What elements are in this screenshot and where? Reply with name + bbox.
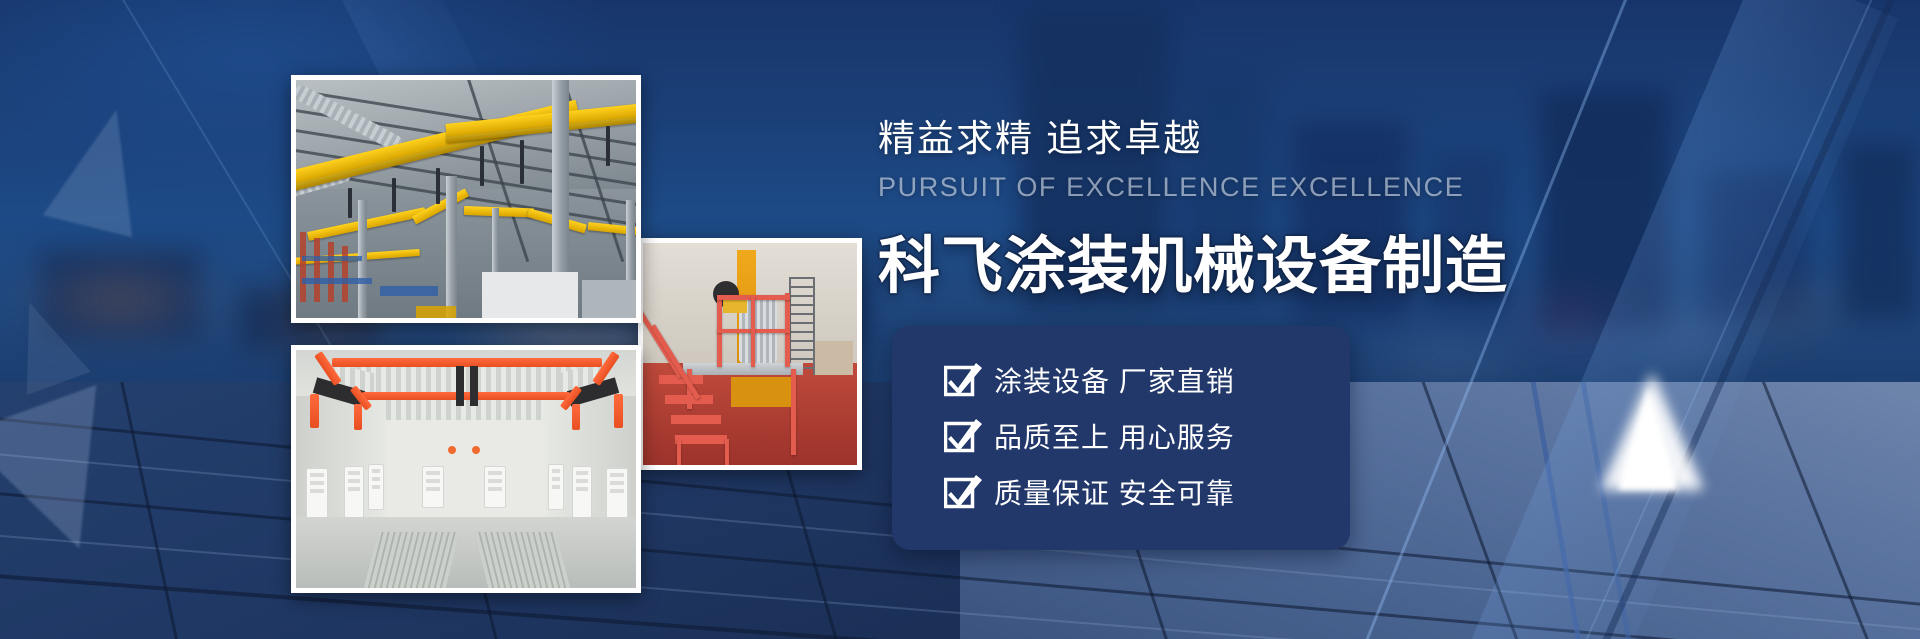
feature-list-box: 涂装设备 厂家直销 品质至上 用心服务 质量保证 安全可靠: [892, 326, 1350, 550]
spray-booth-interior-photo[interactable]: [291, 345, 641, 593]
red-work-platform-photo[interactable]: [638, 238, 862, 470]
feature-label: 涂装设备 厂家直销: [994, 360, 1235, 400]
spotlight-beam-core: [1618, 388, 1678, 490]
feature-label: 质量保证 安全可靠: [994, 472, 1235, 512]
checkbox-checked-icon: [944, 477, 974, 507]
checkbox-checked-icon: [944, 365, 974, 395]
overhead-conveyor-line-photo[interactable]: [291, 75, 641, 323]
promo-banner: 精益求精 追求卓越 PURSUIT OF EXCELLENCE EXCELLEN…: [0, 0, 1920, 639]
company-headline: 科飞涂装机械设备制造: [878, 215, 1508, 305]
tagline-chinese: 精益求精 追求卓越: [878, 108, 1508, 162]
headline-group: 精益求精 追求卓越 PURSUIT OF EXCELLENCE EXCELLEN…: [878, 108, 1508, 305]
feature-item-3[interactable]: 质量保证 安全可靠: [944, 464, 1350, 520]
tagline-english: PURSUIT OF EXCELLENCE EXCELLENCE: [878, 172, 1508, 203]
feature-label: 品质至上 用心服务: [994, 416, 1235, 456]
checkbox-checked-icon: [944, 421, 974, 451]
feature-item-1[interactable]: 涂装设备 厂家直销: [944, 352, 1350, 408]
feature-item-2[interactable]: 品质至上 用心服务: [944, 408, 1350, 464]
